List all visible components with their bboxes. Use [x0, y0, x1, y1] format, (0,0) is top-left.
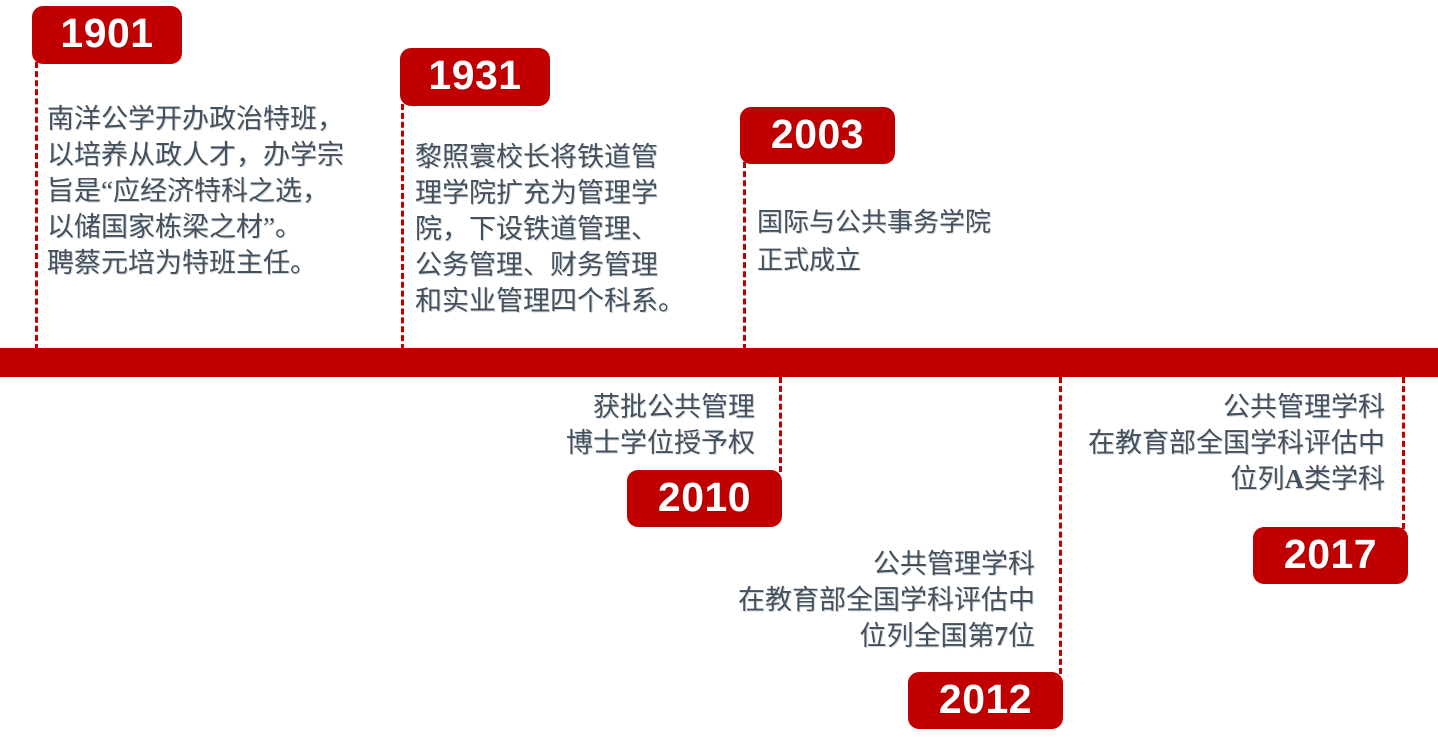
connector-line-2003: [743, 162, 746, 350]
connector-line-2017: [1402, 377, 1405, 529]
event-text-1931: 黎照寰校长将铁道管 理学院扩充为管理学 院，下设铁道管理、 公务管理、财务管理 …: [415, 140, 715, 320]
year-badge-2017[interactable]: 2017: [1253, 527, 1408, 584]
connector-line-2012: [1059, 377, 1062, 674]
connector-line-1931: [401, 104, 404, 350]
connector-line-1901: [35, 62, 38, 350]
year-badge-2012[interactable]: 2012: [908, 672, 1063, 729]
timeline-infographic: 1901 南洋公学开办政治特班， 以培养从政人才，办学宗 旨是“应经济特科之选，…: [0, 0, 1438, 741]
event-text-2003: 国际与公共事务学院 正式成立: [757, 204, 1057, 279]
year-badge-1931[interactable]: 1931: [400, 48, 550, 106]
event-text-1901: 南洋公学开办政治特班， 以培养从政人才，办学宗 旨是“应经济特科之选， 以储国家…: [47, 102, 377, 282]
year-badge-1901[interactable]: 1901: [32, 6, 182, 64]
connector-line-2010: [779, 377, 782, 472]
year-badge-2003[interactable]: 2003: [740, 107, 895, 164]
event-text-2012: 公共管理学科在教育部全国学科评估中位列全国第7位: [735, 547, 1035, 655]
timeline-bar: [0, 348, 1438, 377]
event-text-2010: 获批公共管理 博士学位授予权: [455, 390, 755, 462]
year-badge-2010[interactable]: 2010: [627, 470, 782, 527]
event-text-2017: 公共管理学科在教育部全国学科评估中位列A类学科: [1070, 390, 1385, 498]
